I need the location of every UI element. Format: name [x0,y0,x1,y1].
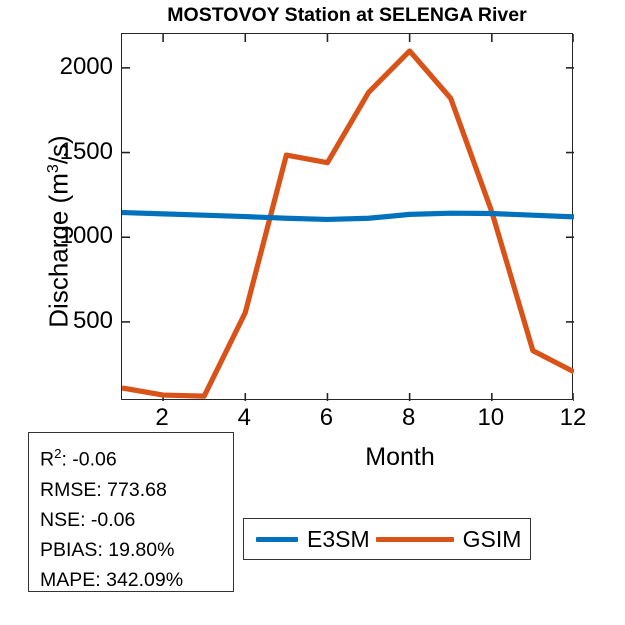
plot-area [121,33,573,400]
legend-swatch-gsim [376,537,454,542]
x-tick-label: 8 [379,404,439,432]
stat-r2: R2: -0.06 [40,439,233,475]
stat-mape: MAPE: 342.09% [40,565,233,595]
x-tick-label: 2 [132,404,192,432]
stat-r2-value: : -0.06 [61,449,116,471]
y-axis-title-text: Discharge (m [44,173,74,328]
plot-svg [122,34,574,401]
legend-item-gsim[interactable]: GSIM [376,526,522,553]
series-line-e3sm [122,213,574,220]
stat-pbias: PBIAS: 19.80% [40,535,233,565]
y-axis-title-exponent: 3 [44,164,62,173]
legend-label-gsim: GSIM [463,526,522,553]
x-tick-label: 6 [296,404,356,432]
chart-title: MOSTOVOY Station at SELENGA River [121,4,573,27]
x-axis-title: Month [300,443,500,472]
x-tick-label: 4 [214,404,274,432]
legend-swatch-e3sm [256,537,298,542]
series-line-gsim [122,51,574,396]
chart-legend[interactable]: E3SMGSIM [243,518,531,560]
statistics-box: R2: -0.06 RMSE: 773.68 NSE: -0.06 PBIAS:… [28,432,234,592]
stat-r2-label: R [40,449,54,471]
y-axis-title-tail: /s) [44,135,74,164]
stat-nse: NSE: -0.06 [40,505,233,535]
x-tick-label: 12 [543,404,603,432]
chart-root: MOSTOVOY Station at SELENGA River 500100… [0,0,625,625]
legend-label-e3sm: E3SM [307,526,370,553]
stat-rmse: RMSE: 773.68 [40,475,233,505]
legend-item-e3sm[interactable]: E3SM [256,526,370,553]
y-axis-title: Discharge (m3/s) [44,67,75,397]
x-tick-label: 10 [461,404,521,432]
